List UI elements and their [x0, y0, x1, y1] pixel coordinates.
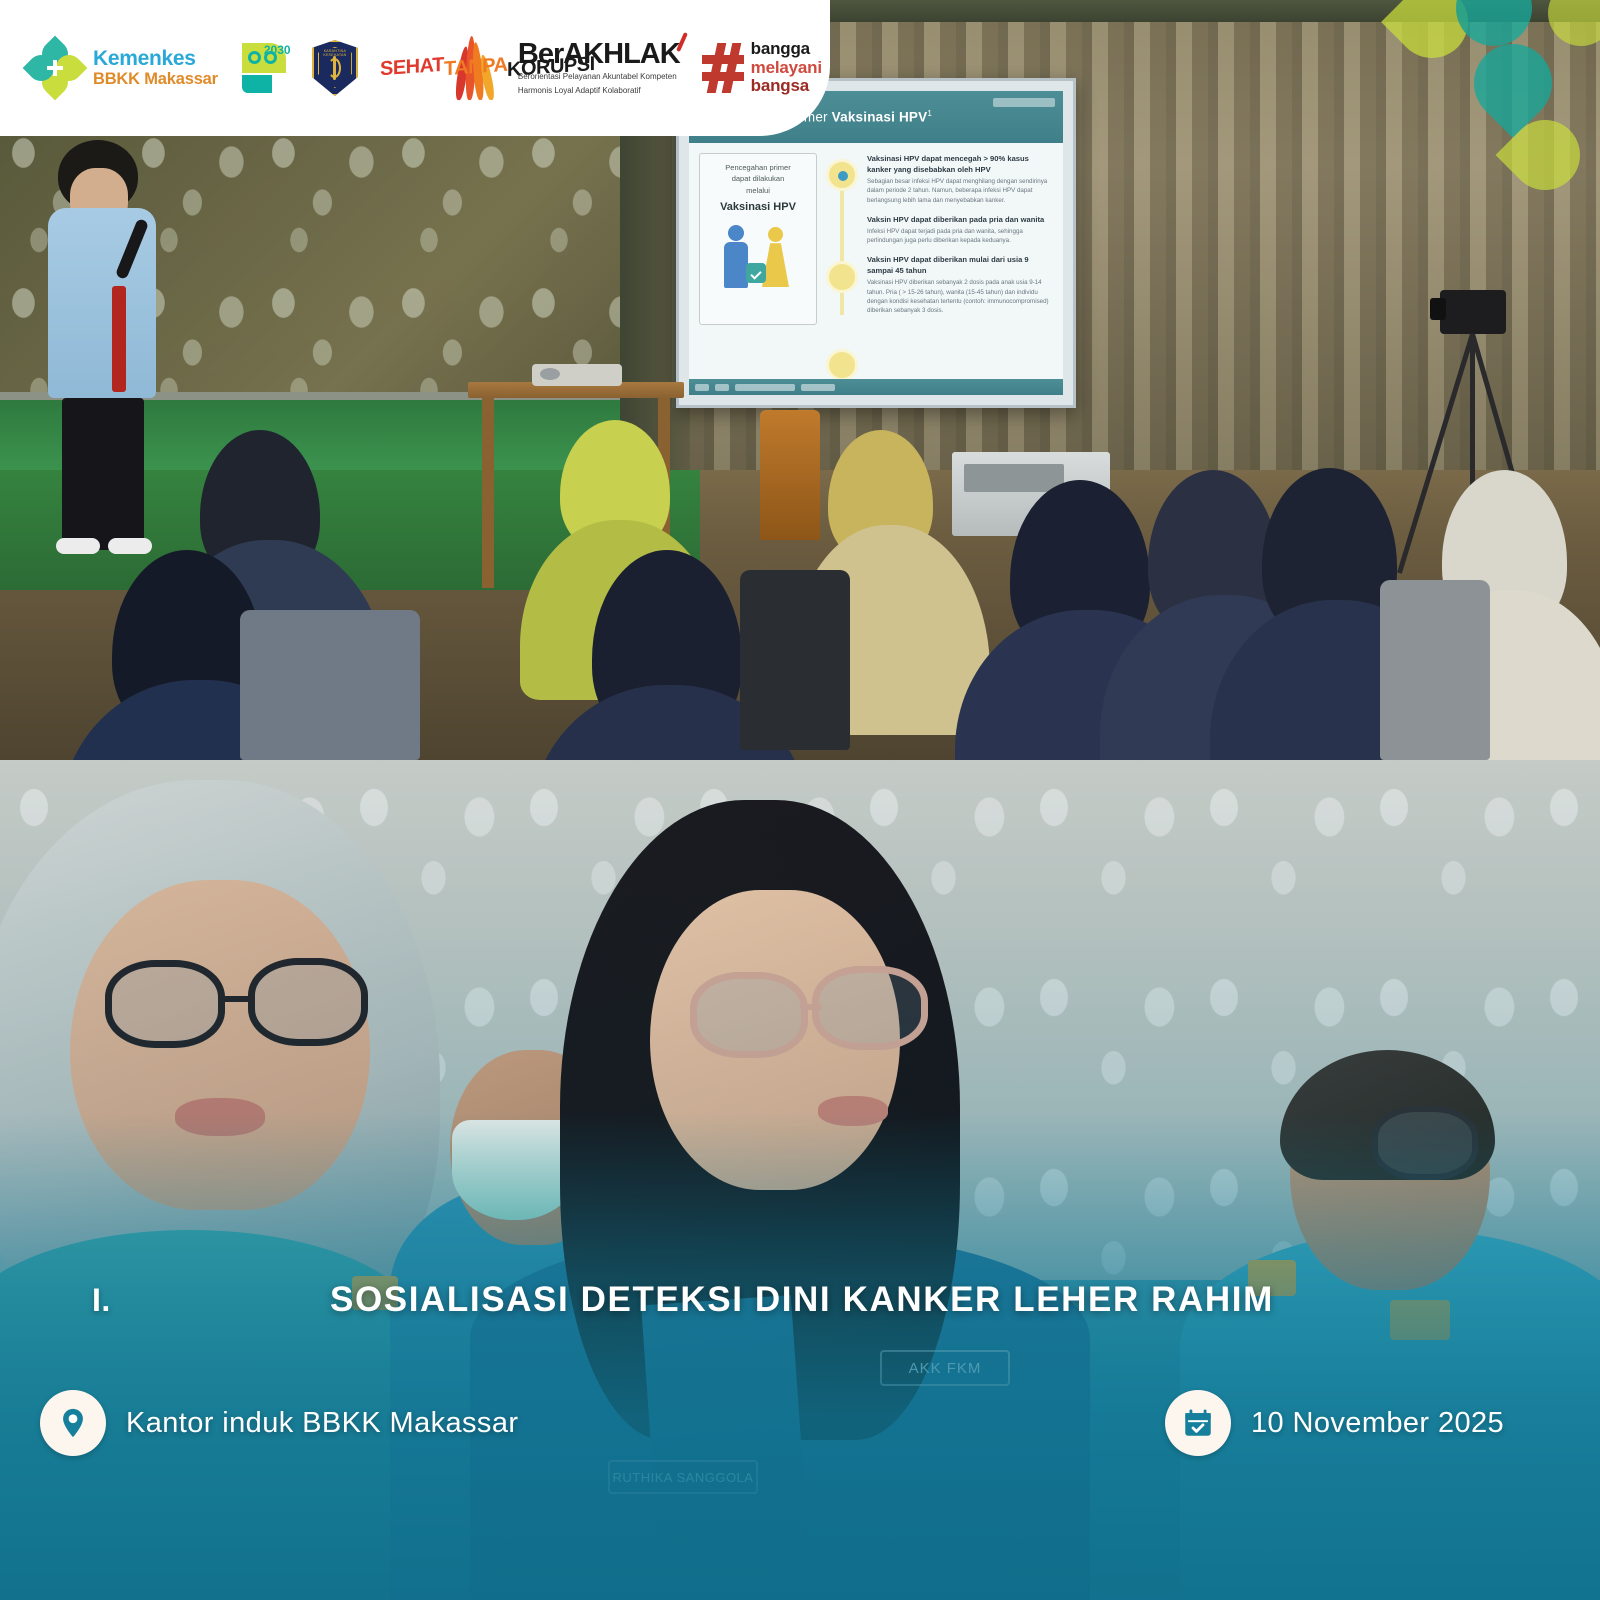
audience — [0, 420, 1600, 760]
slide-point-body: Sebagian besar infeksi HPV dapat menghil… — [867, 177, 1053, 205]
stk-line2: TANPA — [444, 56, 507, 80]
logo-karantina-kesehatan-badge: KARANTINA KESEHATAN — [312, 40, 358, 96]
slide-points: Vaksinasi HPV dapat mencegah > 90% kasus… — [867, 153, 1053, 325]
berakhlak-tick-icon — [680, 32, 694, 52]
slide-timeline — [825, 153, 859, 325]
slide-left-line1: Pencegahan primer — [706, 162, 810, 173]
berakhlak-wordmark: BerAKHLAK — [518, 40, 680, 69]
calendar-check-icon — [1165, 1390, 1231, 1456]
title-number: I. — [0, 1282, 330, 1319]
date-item: 10 November 2025 — [1165, 1390, 1504, 1456]
hashtag-icon — [702, 43, 744, 93]
berakhlak-sub-line2: Harmonis Loyal Adaptif Kolaboratif — [518, 86, 680, 97]
slide-point: Vaksinasi HPV dapat mencegah > 90% kasus… — [867, 153, 1053, 205]
logo-bar: Kemenkes BBKK Makassar 2030 KARANTINA KE… — [0, 0, 830, 136]
date-text: 10 November 2025 — [1251, 1407, 1504, 1440]
logo-berakhlak: BerAKHLAK Berorientasi Pelayanan Akuntab… — [518, 40, 680, 97]
logo-kemenkes-bbkk: Kemenkes BBKK Makassar — [28, 41, 218, 95]
slide-title-sup: 1 — [927, 109, 932, 118]
berakhlak-part-ber: Ber — [518, 38, 563, 70]
id-lanyard — [112, 286, 126, 392]
poster: Pencegahan Primer Vaksinasi HPV1 Pencega… — [0, 0, 1600, 1600]
slide-footer — [689, 379, 1063, 395]
map-pin-icon — [40, 1390, 106, 1456]
slide-left-line2: dapat dilakukan — [706, 173, 810, 184]
chair — [240, 610, 420, 760]
meta-row: Kantor induk BBKK Makassar 10 November 2… — [0, 1390, 1600, 1470]
kemenkes-wordmark: Kemenkes BBKK Makassar — [93, 48, 218, 88]
bmb-line3: bangsa — [751, 77, 822, 95]
logo-bangga-melayani-bangsa: bangga melayani bangsa — [702, 40, 822, 95]
bmb-line2: melayani — [751, 59, 822, 77]
slide-left-box: Pencegahan primer dapat dilakukan melalu… — [699, 153, 817, 325]
logo-2030-label: 2030 — [264, 43, 291, 57]
chair — [740, 570, 850, 750]
stk-line1: SEHAT — [380, 56, 444, 80]
slide-point-heading: Vaksin HPV dapat diberikan pada pria dan… — [867, 214, 1053, 225]
kemenkes-watermark — [1370, 0, 1600, 160]
berakhlak-sub-line1: Berorientasi Pelayanan Akuntabel Kompete… — [518, 72, 680, 83]
location-text: Kantor induk BBKK Makassar — [126, 1407, 518, 1440]
logo-indonesia-sehat-2030: 2030 — [240, 41, 290, 95]
slide-point: Vaksin HPV dapat diberikan pada pria dan… — [867, 214, 1053, 246]
location-item: Kantor induk BBKK Makassar — [40, 1390, 518, 1456]
presentation-slide: Pencegahan Primer Vaksinasi HPV1 Pencega… — [689, 91, 1063, 395]
slide-badge — [993, 98, 1055, 107]
slide-point-body: Vaksinasi HPV diberikan sebanyak 2 dosis… — [867, 278, 1053, 315]
slide-left-line4: Vaksinasi HPV — [706, 199, 810, 216]
slide-point-body: Infeksi HPV dapat terjadi pada pria dan … — [867, 227, 1053, 246]
bmb-line1: bangga — [751, 40, 822, 58]
chair — [1380, 580, 1490, 760]
slide-title-bold: Vaksinasi HPV — [832, 110, 928, 125]
slide-people-illustration — [706, 223, 810, 295]
kemenkes-line1: Kemenkes — [93, 48, 218, 69]
page-title: SOSIALISASI DETEKSI DINI KANKER LEHER RA… — [330, 1280, 1274, 1320]
projector-device — [532, 364, 622, 386]
text-overlay: I. SOSIALISASI DETEKSI DINI KANKER LEHER… — [0, 760, 1600, 1600]
kemenkes-flower-icon — [28, 41, 84, 95]
kemenkes-line2: BBKK Makassar — [93, 70, 218, 88]
slide-point-heading: Vaksinasi HPV dapat mencegah > 90% kasus… — [867, 153, 1053, 175]
video-camera — [1440, 290, 1506, 334]
slide-left-line3: melalui — [706, 185, 810, 196]
logo-sehat-tanpa-korupsi: SEHAT TANPA KORUPSI — [380, 32, 496, 104]
berakhlak-part-akhlak: AKHLAK — [563, 38, 679, 70]
slide-point: Vaksin HPV dapat diberikan mulai dari us… — [867, 254, 1053, 315]
title-row: I. SOSIALISASI DETEKSI DINI KANKER LEHER… — [0, 1280, 1600, 1320]
slide-point-heading: Vaksin HPV dapat diberikan mulai dari us… — [867, 254, 1053, 276]
slide-body: Pencegahan primer dapat dilakukan melalu… — [689, 143, 1063, 331]
